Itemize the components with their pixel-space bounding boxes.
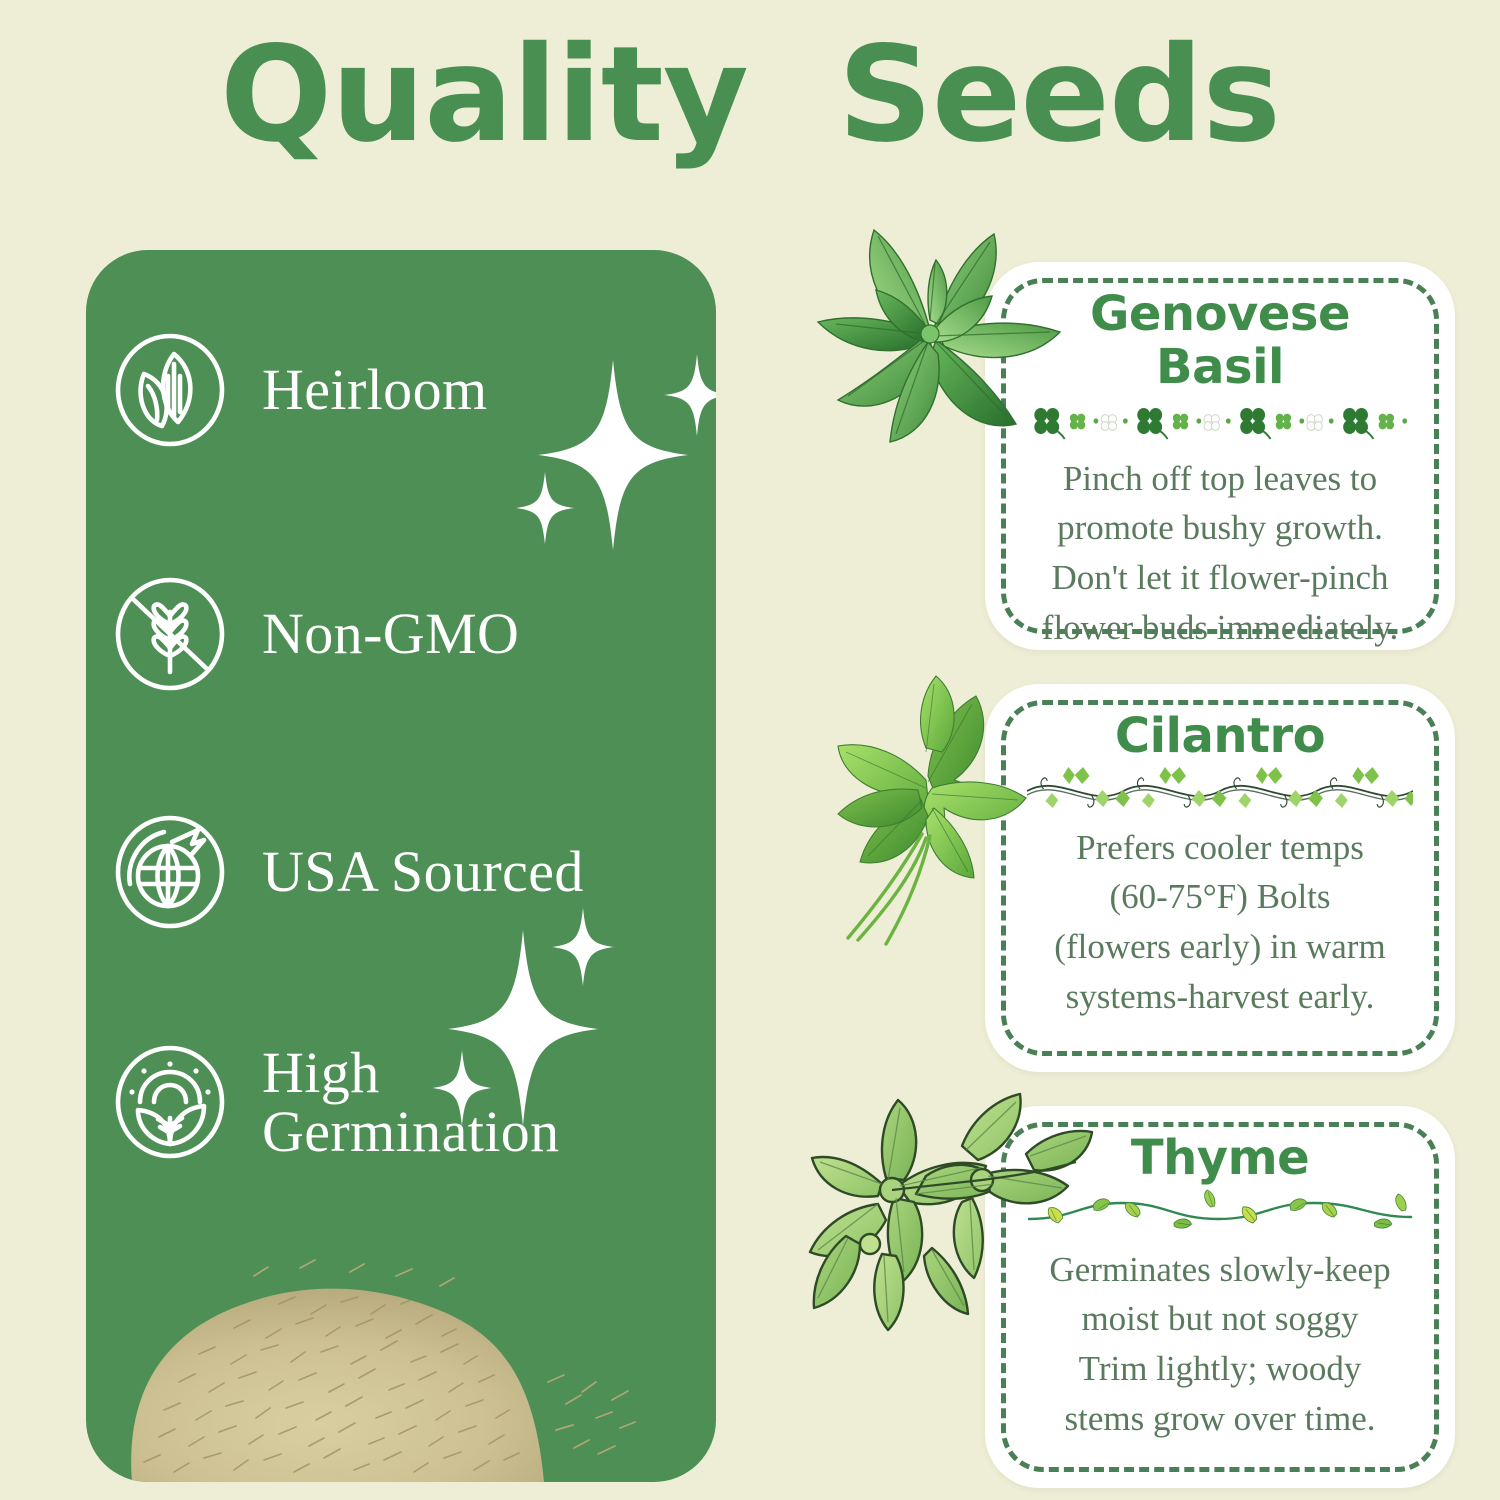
card-title: Genovese Basil	[1027, 288, 1413, 394]
page-title: Quality Seeds	[0, 26, 1500, 166]
features-panel: Heirloom Non-	[86, 250, 716, 1482]
feature-label: USA Sourced	[262, 842, 584, 901]
ivy-vine-divider-icon	[1027, 767, 1413, 813]
feature-item-high-germination: High Germination	[108, 1040, 708, 1164]
feature-item-non-gmo: Non-GMO	[108, 572, 708, 696]
herb-card-cilantro: Cilantro	[985, 684, 1455, 1072]
card-body: Pinch off top leaves to promote bushy gr…	[1042, 454, 1398, 653]
herb-card-thyme: Thyme	[985, 1106, 1455, 1488]
globe-plane-icon	[108, 810, 232, 934]
seed-icon	[108, 328, 232, 452]
no-gmo-wheat-icon	[108, 572, 232, 696]
card-title: Cilantro	[1115, 710, 1325, 763]
card-title: Thyme	[1131, 1132, 1309, 1185]
seed-pile-image	[104, 1232, 704, 1482]
infographic-root: Quality Seeds	[0, 0, 1500, 1500]
card-body: Prefers cooler temps (60-75°F) Bolts (fl…	[1054, 823, 1385, 1022]
feature-item-heirloom: Heirloom	[108, 328, 708, 452]
feature-item-usa-sourced: USA Sourced	[108, 810, 708, 934]
feature-label: Heirloom	[262, 360, 488, 419]
clover-flower-divider-icon	[1027, 398, 1413, 444]
feature-label: High Germination	[262, 1043, 560, 1161]
sprout-sun-icon	[108, 1040, 232, 1164]
card-body: Germinates slowly-keep moist but not sog…	[1049, 1245, 1390, 1444]
herb-card-genovese-basil: Genovese Basil	[985, 262, 1455, 650]
leafy-wave-divider-icon	[1027, 1189, 1413, 1235]
feature-label: Non-GMO	[262, 604, 519, 663]
